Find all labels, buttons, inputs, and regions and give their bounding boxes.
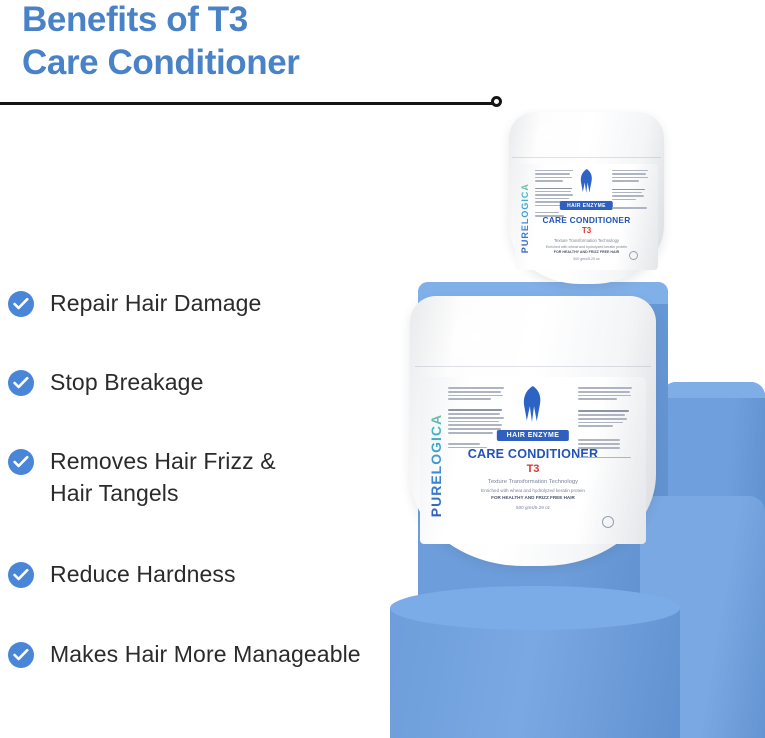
brand-name: PURELOGICA <box>428 390 444 517</box>
hair-strands-icon <box>518 384 548 424</box>
pedestal-top-face <box>662 382 765 398</box>
list-item: Reduce Hardness <box>8 559 236 591</box>
benefit-label: Makes Hair More Manageable <box>50 639 361 671</box>
title-line-1: Benefits of T3 <box>22 0 248 39</box>
jar-lid-seam <box>512 157 661 158</box>
hair-enzyme-badge: HAIR ENZYME <box>560 201 613 210</box>
check-circle-icon <box>8 562 34 588</box>
list-item: Stop Breakage <box>8 367 203 399</box>
product-jar-main: PURELOGICA <box>410 296 656 566</box>
hair-strands-icon <box>576 168 596 194</box>
label-right-text-block <box>612 170 650 264</box>
infographic-canvas: Benefits of T3 Care Conditioner Repair H… <box>0 0 765 738</box>
check-circle-icon <box>8 449 34 475</box>
check-circle-icon <box>8 291 34 317</box>
jar-highlight <box>449 312 513 371</box>
list-item: Removes Hair Frizz & Hair Tangels <box>8 446 276 509</box>
jar-label: PURELOGICA <box>420 377 646 544</box>
hair-enzyme-badge: HAIR ENZYME <box>497 430 570 441</box>
brand-name: PURELOGICA <box>520 170 530 253</box>
recycle-icon <box>602 516 614 528</box>
page-title: Benefits of T3 Care Conditioner <box>22 0 462 85</box>
pedestal-front-cylinder <box>390 608 680 738</box>
recycle-icon <box>629 251 638 260</box>
pedestal-cylinder-top <box>390 586 680 630</box>
product-scene: PURELOGICA <box>378 96 765 738</box>
label-right-text-block <box>578 387 634 534</box>
list-item: Makes Hair More Manageable <box>8 639 361 671</box>
title-line-2: Care Conditioner <box>22 41 462 84</box>
benefit-label: Repair Hair Damage <box>50 288 261 320</box>
benefit-label: Removes Hair Frizz & Hair Tangels <box>50 446 276 509</box>
benefit-label: Reduce Hardness <box>50 559 236 591</box>
jar-highlight <box>534 122 574 160</box>
jar-lid-seam <box>415 366 651 367</box>
jar-label: PURELOGICA <box>515 164 658 271</box>
list-item: Repair Hair Damage <box>8 288 261 320</box>
check-circle-icon <box>8 370 34 396</box>
product-jar-top: PURELOGICA <box>509 112 664 284</box>
check-circle-icon <box>8 642 34 668</box>
benefit-label: Stop Breakage <box>50 367 203 399</box>
